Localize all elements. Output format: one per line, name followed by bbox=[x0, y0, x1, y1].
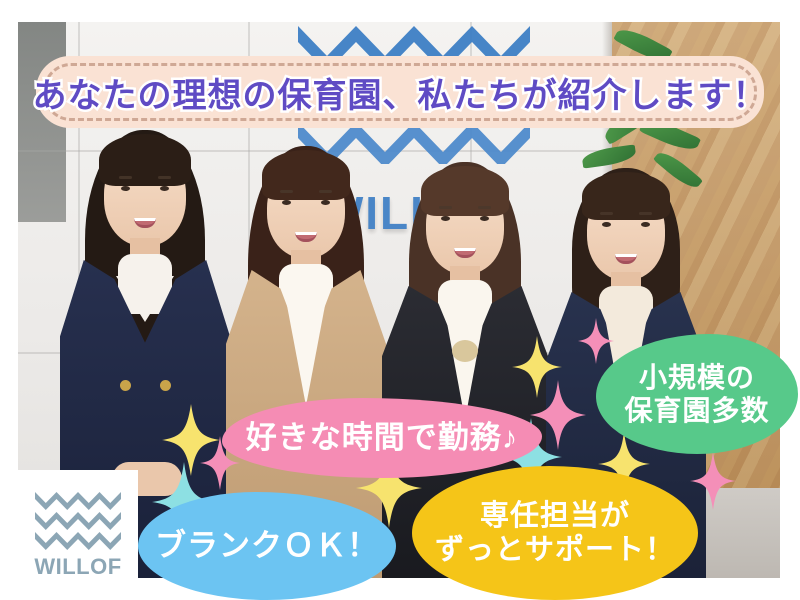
career-gap-ok-bubble[interactable]: ブランクＯＫ！ bbox=[138, 492, 396, 600]
bubble-line: 専任担当が bbox=[435, 499, 675, 533]
bubble-line: ブランクＯＫ！ bbox=[155, 528, 379, 565]
bubble-line: 保育園多数 bbox=[624, 394, 769, 427]
willof-corner-logo: WILLOF bbox=[18, 470, 138, 600]
pink-sparkle-icon bbox=[690, 452, 736, 510]
dedicated-support-bubble[interactable]: 専任担当が ずっとサポート！ bbox=[412, 466, 698, 600]
header-banner: あなたの理想の保育園、私たちが紹介します！ bbox=[36, 56, 764, 128]
bubble-line: ずっとサポート！ bbox=[435, 533, 675, 567]
willof-zigzag-mark-icon bbox=[35, 490, 121, 550]
advertisement-canvas: WILLOF bbox=[0, 0, 800, 600]
header-banner-text: あなたの理想の保育園、私たちが紹介します！ bbox=[33, 68, 768, 117]
bubble-line: 小規模の bbox=[624, 361, 769, 394]
pink-sparkle-icon bbox=[578, 318, 614, 364]
willof-wordmark: WILLOF bbox=[34, 554, 121, 580]
bubble-line: 好きな時間で勤務♪ bbox=[246, 420, 519, 457]
necklace-pendant bbox=[452, 340, 478, 362]
flexible-hours-bubble[interactable]: 好きな時間で勤務♪ bbox=[222, 398, 542, 478]
